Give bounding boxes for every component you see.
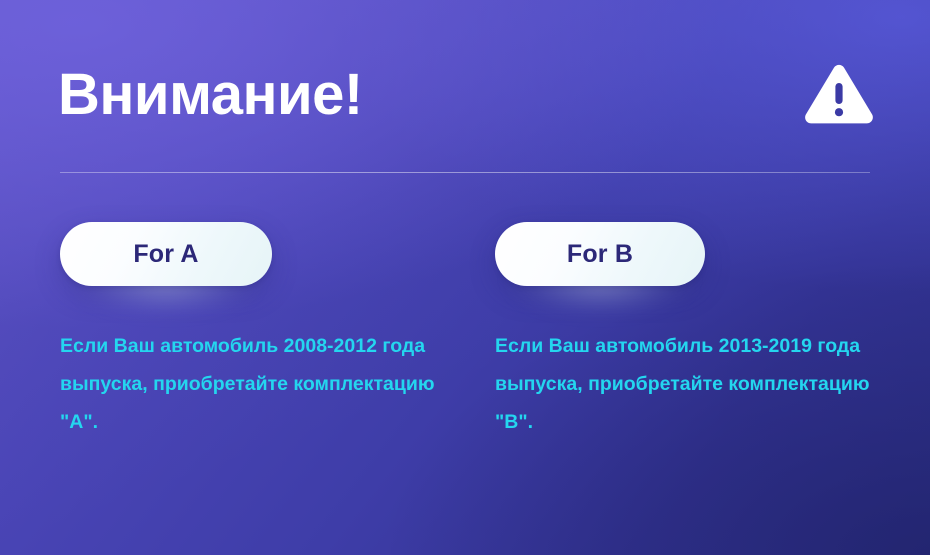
header-divider: [60, 172, 870, 173]
for-b-button[interactable]: For B: [495, 222, 705, 286]
option-b-description: Если Ваш автомобиль 2013-2019 года выпус…: [495, 327, 875, 441]
options-container: For A Если Ваш автомобиль 2008-2012 года…: [0, 222, 930, 472]
banner-header: Внимание!: [58, 55, 875, 135]
attention-banner: Внимание! For A Если Ваш автомобиль 2008…: [0, 0, 930, 555]
option-column-b: For B Если Ваш автомобиль 2013-2019 года…: [495, 222, 895, 441]
warning-triangle-icon: [803, 63, 875, 127]
page-title: Внимание!: [58, 66, 363, 124]
option-a-description: Если Ваш автомобиль 2008-2012 года выпус…: [60, 327, 445, 441]
for-a-button[interactable]: For A: [60, 222, 272, 286]
option-column-a: For A Если Ваш автомобиль 2008-2012 года…: [60, 222, 460, 441]
pill-wrapper-b: For B: [495, 222, 705, 286]
banner-content: Внимание! For A Если Ваш автомобиль 2008…: [0, 0, 930, 555]
pill-wrapper-a: For A: [60, 222, 272, 286]
